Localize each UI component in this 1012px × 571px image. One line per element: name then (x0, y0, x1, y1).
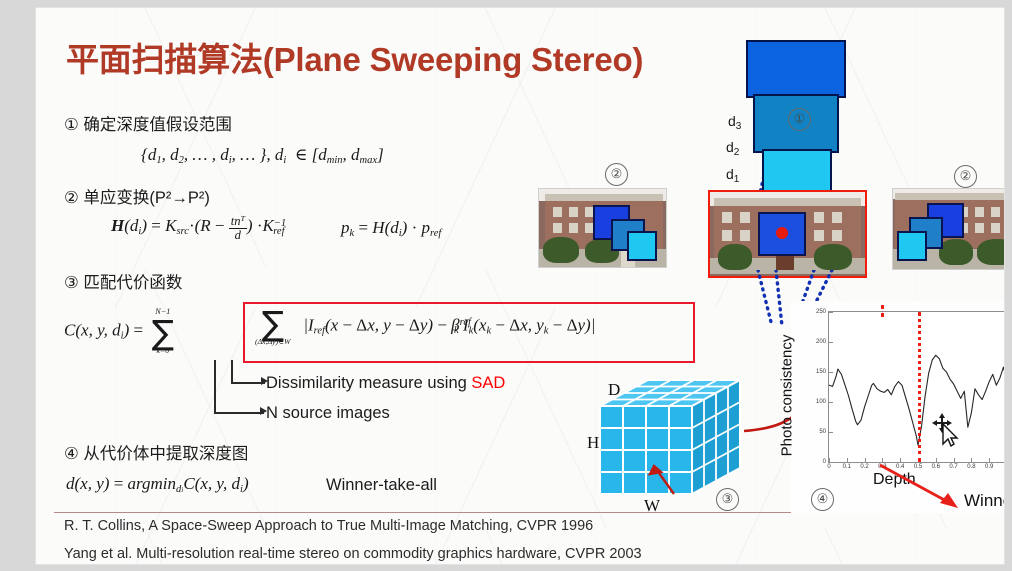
patch-left-d1 (627, 231, 657, 261)
cube-label-height: H (587, 433, 599, 453)
chart-winner-marker-extension (881, 305, 884, 317)
step-marker-2-right: ② (954, 165, 977, 188)
depth-label-d2: d2 (726, 139, 739, 158)
chart-plot-area: 050100150200250 00.10.20.30.40.50.60.70.… (828, 311, 1004, 463)
chart-y-tick: 150 (816, 369, 826, 375)
depth-plane-3 (746, 40, 846, 98)
annotation-sad-label: SAD (471, 374, 505, 392)
outer-summation: N−1 ∑ k=0 (152, 308, 174, 355)
bullet-text-2: 单应变换(P²→P²) (83, 189, 210, 207)
formula-depth-set: {d1, d2, … , di, … }, di ∈ [dmin, dmax] (141, 145, 384, 166)
reference-image (708, 190, 867, 278)
move-cursor (931, 413, 965, 447)
winner-label: Winner (964, 491, 1004, 511)
chart-y-tick: 250 (816, 309, 826, 315)
chart-y-tick: 100 (816, 399, 826, 405)
chart-x-tick: 0 (827, 464, 830, 470)
source-image-left (538, 188, 667, 268)
reference-point-marker (776, 227, 788, 239)
bullet-text-4: 从代价体中提取深度图 (83, 445, 248, 463)
chart-x-tick: 0.1 (843, 464, 851, 470)
formula-projection: pk = H(di) · pref (341, 218, 441, 239)
citation-1: R. T. Collins, A Space-Sweep Approach to… (64, 518, 593, 534)
source-image-right (892, 188, 1004, 270)
bullet-marker-4: ④ (64, 445, 79, 463)
patch-right-d1 (897, 231, 927, 261)
slide-canvas: 平面扫描算法(Plane Sweeping Stereo) ① 确定深度值假设范… (36, 8, 1004, 564)
formula-cost-lhs: C(x, y, di) = N−1 ∑ k=0 (64, 308, 174, 355)
annotation-dissimilarity-text: Dissimilarity measure using (266, 374, 471, 392)
formula-cost-inner: ∑ (Δx,Δy)∈W |Iref(x − Δx, y − Δy) − βref… (255, 307, 595, 346)
step-marker-4: ④ (811, 488, 834, 511)
bullet-marker-3: ③ (64, 274, 79, 292)
arrow-to-winner (876, 463, 976, 513)
depth-label-d1: d1 (726, 166, 739, 185)
bullet-text-1: 确定深度值假设范围 (83, 116, 232, 134)
annotation-n-source-images: N source images (266, 404, 390, 423)
step-marker-3: ③ (716, 488, 739, 511)
cube-label-depth: D (608, 380, 620, 400)
step-marker-1: ① (788, 108, 811, 131)
bullet-item-1: ① 确定深度值假设范围 (64, 111, 232, 135)
bullet-marker-2: ② (64, 189, 79, 207)
chart-y-tick: 50 (819, 429, 826, 435)
inner-summation: ∑ (Δx,Δy)∈W (255, 307, 291, 346)
chart-y-tick: 0 (823, 459, 826, 465)
bullet-item-4: ④ 从代价体中提取深度图 (64, 440, 248, 464)
chart-y-tick: 200 (816, 339, 826, 345)
formula-depthmap: d(x, y) = argmindiC(x, y, di) (66, 474, 249, 495)
annotation-dissimilarity: Dissimilarity measure using SAD (266, 374, 505, 393)
chart-line-series (829, 312, 1004, 462)
page-title: 平面扫描算法(Plane Sweeping Stereo) (66, 33, 643, 81)
chart-y-axis-label: Photo consistency (779, 335, 796, 457)
bullet-marker-1: ① (64, 116, 79, 134)
winner-take-all-label: Winner-take-all (326, 476, 437, 495)
bullet-text-3: 匹配代价函数 (83, 274, 182, 292)
step-marker-2-left: ② (605, 163, 628, 186)
annotation-bracket-inner (231, 360, 265, 384)
chart-x-tick: 0.9 (985, 464, 993, 470)
chart-winner-marker-line (918, 312, 921, 462)
chart-y-tickmark (829, 462, 833, 463)
chart-x-tick: 0.2 (860, 464, 868, 470)
depth-label-d3: d3 (728, 113, 741, 132)
citation-2: Yang et al. Multi-resolution real-time s… (64, 546, 642, 562)
cube-label-width: W (644, 496, 660, 516)
formula-homography: H(di) = Ksrc·(R − tnTd) ·K−1ref (111, 215, 285, 242)
bullet-item-3: ③ 匹配代价函数 (64, 269, 182, 293)
bullet-item-2: ② 单应变换(P²→P²) (64, 184, 210, 208)
